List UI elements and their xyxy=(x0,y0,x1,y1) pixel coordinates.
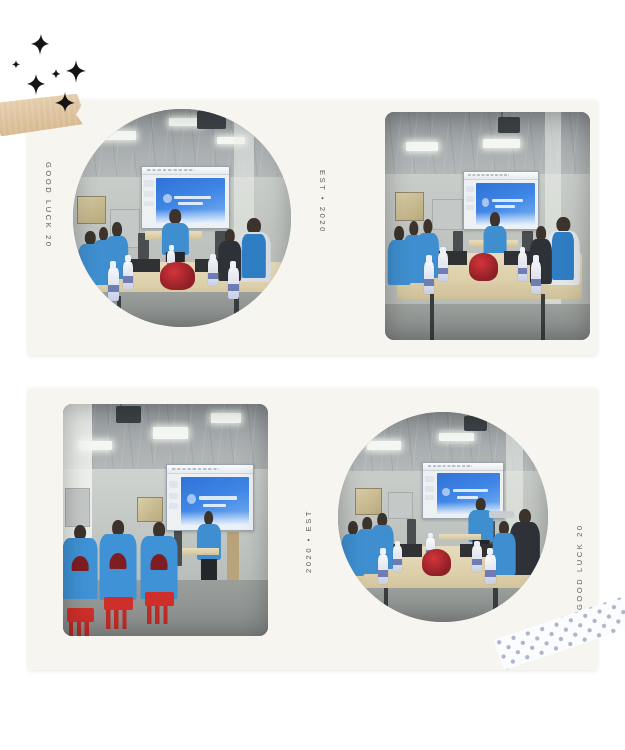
star-doodle-icon xyxy=(12,60,20,69)
caption-est-bottom-middle: 2020 • EST xyxy=(305,509,313,573)
star-doodle-icon xyxy=(55,92,75,112)
photo-bottom-left[interactable] xyxy=(63,404,268,636)
star-doodle-icon xyxy=(51,69,60,79)
photo-top-left-image xyxy=(73,109,291,327)
star-doodle-icon xyxy=(31,34,49,55)
photo-top-right[interactable] xyxy=(385,112,590,340)
photo-top-left[interactable] xyxy=(73,109,291,327)
caption-good-luck-bottom-right: GOOD LUCK 20 xyxy=(576,523,584,610)
caption-est-top-middle: EST • 2020 xyxy=(319,170,327,234)
photo-card-top[interactable]: GOOD LUCK 20 EST • 2020 xyxy=(28,100,597,355)
caption-good-luck-top-left: GOOD LUCK 20 xyxy=(45,162,53,249)
photo-bottom-left-image xyxy=(63,404,268,636)
star-doodle-icon xyxy=(66,60,86,83)
photo-card-bottom[interactable]: 2020 • EST GOOD LUCK 20 xyxy=(28,388,597,670)
photo-bottom-right[interactable] xyxy=(338,412,548,622)
photo-top-right-image xyxy=(385,112,590,340)
photo-bottom-right-image xyxy=(338,412,548,622)
star-doodles-decoration xyxy=(8,22,108,112)
star-doodle-icon xyxy=(27,74,45,95)
collage-page: GOOD LUCK 20 EST • 2020 xyxy=(0,0,625,750)
